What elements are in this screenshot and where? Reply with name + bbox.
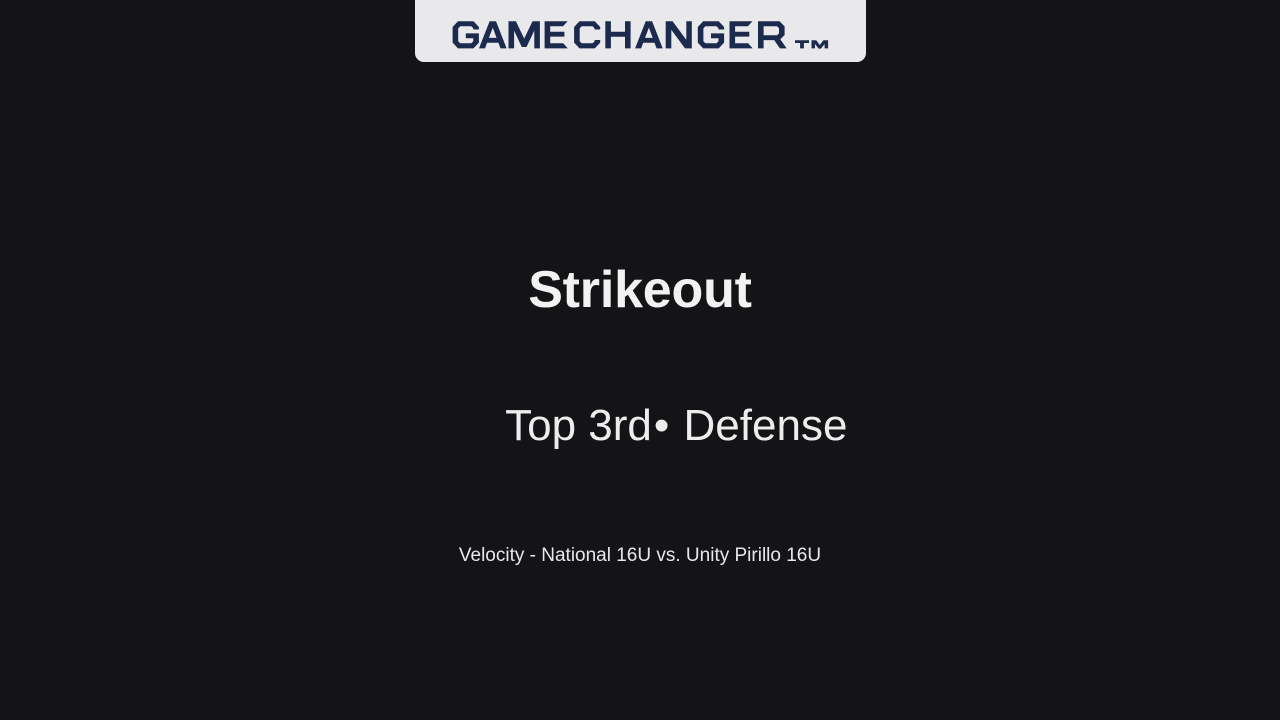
play-headline: Strikeout xyxy=(0,262,1280,319)
play-side: Defense xyxy=(684,401,848,450)
play-subtitle: Top 3rd• Defense xyxy=(0,350,1280,502)
play-content: Strikeout Top 3rd• Defense Velocity - Na… xyxy=(0,0,1280,720)
play-card-screen: Strikeout Top 3rd• Defense Velocity - Na… xyxy=(0,0,1280,720)
bullet-separator-icon: • xyxy=(652,401,671,452)
play-inning: Top 3rd xyxy=(505,401,652,450)
matchup-caption: Velocity - National 16U vs. Unity Pirill… xyxy=(0,544,1280,569)
